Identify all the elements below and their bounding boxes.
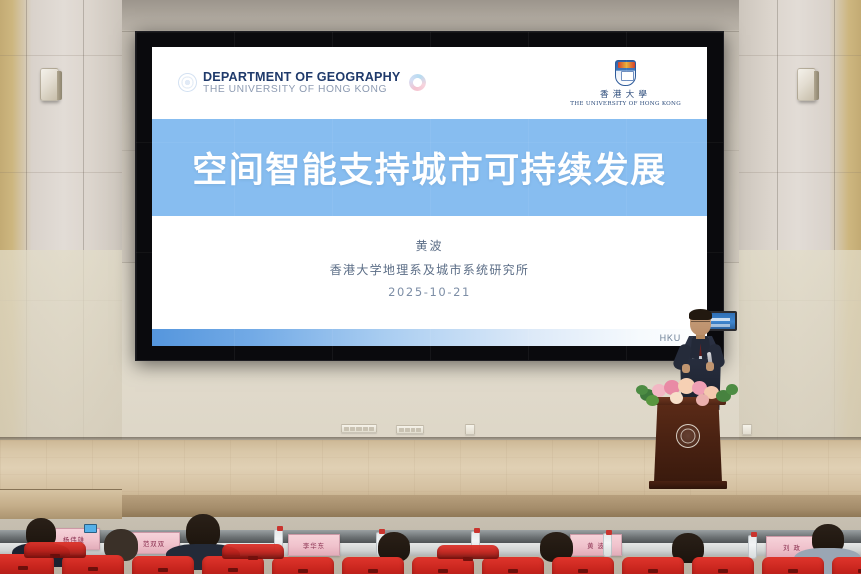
presentation-slide: DEPARTMENT OF GEOGRAPHY THE UNIVERSITY O… [152,47,707,346]
name-card: 黄 波 [570,534,622,556]
university-emblem-icon [676,424,700,448]
dept-logo-line1: DEPARTMENT OF GEOGRAPHY [203,71,400,84]
led-display-screen: DEPARTMENT OF GEOGRAPHY THE UNIVERSITY O… [135,31,724,361]
hku-logo-chinese: 香港大學 [570,88,681,100]
slide-title-band: 空间智能支持城市可持续发展 [152,119,707,216]
right-hand [706,362,714,371]
department-logo: DEPARTMENT OF GEOGRAPHY THE UNIVERSITY O… [178,71,426,95]
hair [689,309,712,320]
left-hand [682,364,690,373]
podium-body [654,404,722,482]
name-card: 李华东 [288,534,340,556]
auditorium-seat [482,557,544,574]
auditorium-seat [342,557,404,574]
water-bottle [603,533,612,557]
presenter-name: 黄波 [415,237,443,254]
audience-area: 杨伟雄 范双双 李华东 黄 波 刘 政 [0,510,861,574]
swirl-icon [409,74,426,91]
smartphone-icon [84,524,97,533]
slide-title: 空间智能支持城市可持续发展 [192,142,667,193]
floor-grain [0,440,861,502]
presenter-affiliation: 香港大学地理系及城市系统研究所 [330,261,530,278]
speaker-podium [654,397,722,489]
auditorium-seat [622,557,684,574]
glasses-icon [691,321,710,325]
auditorium-seat [272,557,334,574]
name-card-text: 李华东 [303,541,325,550]
water-bottle [748,535,757,559]
flower-arrangement [636,375,740,409]
stage-floor [0,440,861,502]
audience-head [186,514,220,548]
wall-speaker-icon [40,68,59,101]
wall-switch-plate[interactable] [396,425,424,434]
screen-content-area: DEPARTMENT OF GEOGRAPHY THE UNIVERSITY O… [152,47,707,346]
hku-crest-icon [615,60,636,86]
auditorium-seat [552,557,614,574]
globe-icon [178,73,197,92]
auditorium-seat [132,556,194,574]
name-card-text: 范双双 [143,539,165,548]
slide-header: DEPARTMENT OF GEOGRAPHY THE UNIVERSITY O… [152,47,707,119]
name-card-text: 刘 政 [783,543,801,552]
dept-logo-line2: THE UNIVERSITY OF HONG KONG [203,85,400,95]
auditorium-seat [832,557,861,574]
auditorium-seat [692,557,754,574]
auditorium-seat [437,545,499,559]
hku-logo-english: THE UNIVERSITY OF HONG KONG [570,101,681,107]
slide-footer-bar: HKU [152,329,707,346]
auditorium-seat [762,557,824,574]
wall-outlet[interactable] [465,424,475,435]
wall-switch-plate[interactable] [341,424,377,433]
slide-body: 黄波 香港大学地理系及城市系统研究所 2025-10-21 [152,216,707,329]
wall-outlet[interactable] [742,424,752,435]
auditorium-seat [24,542,86,558]
podium-base [649,481,727,489]
presentation-date: 2025-10-21 [388,285,471,299]
wall-speaker-icon [797,68,816,101]
lecture-hall-photo: DEPARTMENT OF GEOGRAPHY THE UNIVERSITY O… [0,0,861,574]
auditorium-seat [222,544,284,559]
hku-university-logo: 香港大學 THE UNIVERSITY OF HONG KONG [570,60,681,107]
